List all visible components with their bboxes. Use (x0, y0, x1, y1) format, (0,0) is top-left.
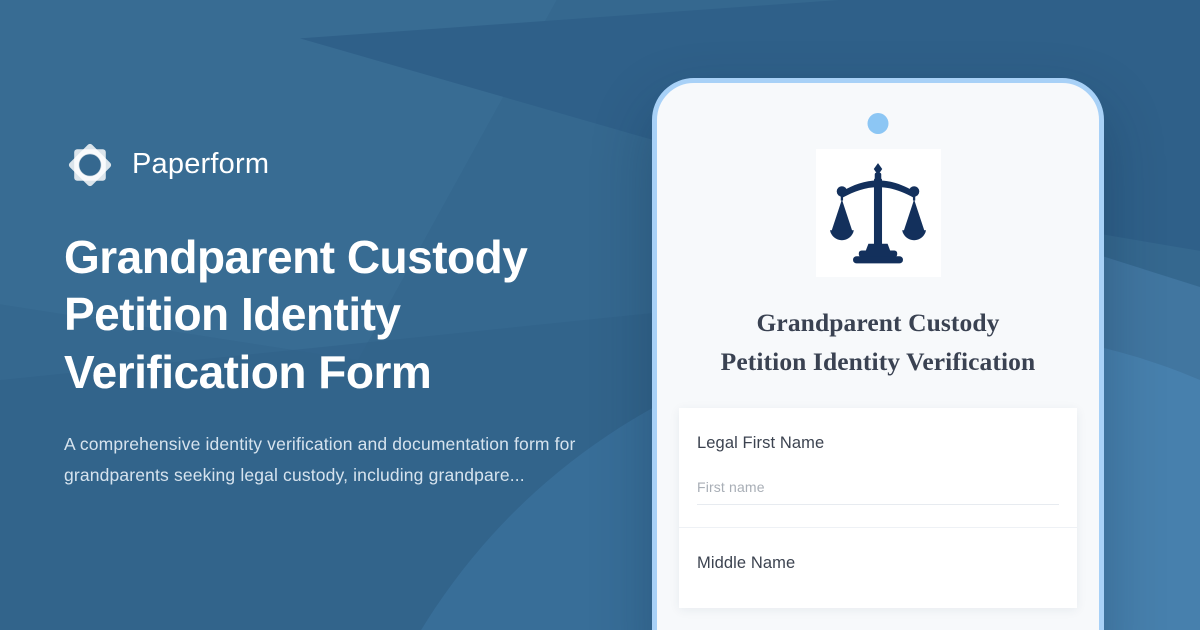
brand-lockup: Paperform (64, 139, 664, 191)
page-title: Grandparent Custody Petition Identity Ve… (64, 229, 604, 402)
form-title: Grandparent Custody Petition Identity Ve… (713, 303, 1043, 381)
field-input-legal-first-name[interactable]: First name (697, 479, 1059, 505)
form-field-legal-first-name: Legal First Name First name (679, 408, 1077, 505)
field-label-middle-name: Middle Name (697, 554, 1059, 573)
form-card: Legal First Name First name Middle Name (679, 408, 1077, 608)
paperform-octagram-icon (64, 139, 116, 191)
field-label-legal-first-name: Legal First Name (697, 434, 1059, 453)
hero-text-column: Paperform Grandparent Custody Petition I… (64, 0, 664, 630)
field-input-middle-name[interactable] (697, 599, 1059, 608)
scales-of-justice-icon (830, 161, 926, 265)
og-image-canvas: Paperform Grandparent Custody Petition I… (0, 0, 1200, 630)
form-logo-box (816, 149, 941, 277)
page-description: A comprehensive identity verification an… (64, 429, 579, 491)
phone-screen: Grandparent Custody Petition Identity Ve… (657, 83, 1099, 630)
brand-name: Paperform (132, 148, 269, 181)
form-field-middle-name: Middle Name (679, 527, 1077, 608)
phone-mockup: Grandparent Custody Petition Identity Ve… (652, 78, 1104, 630)
